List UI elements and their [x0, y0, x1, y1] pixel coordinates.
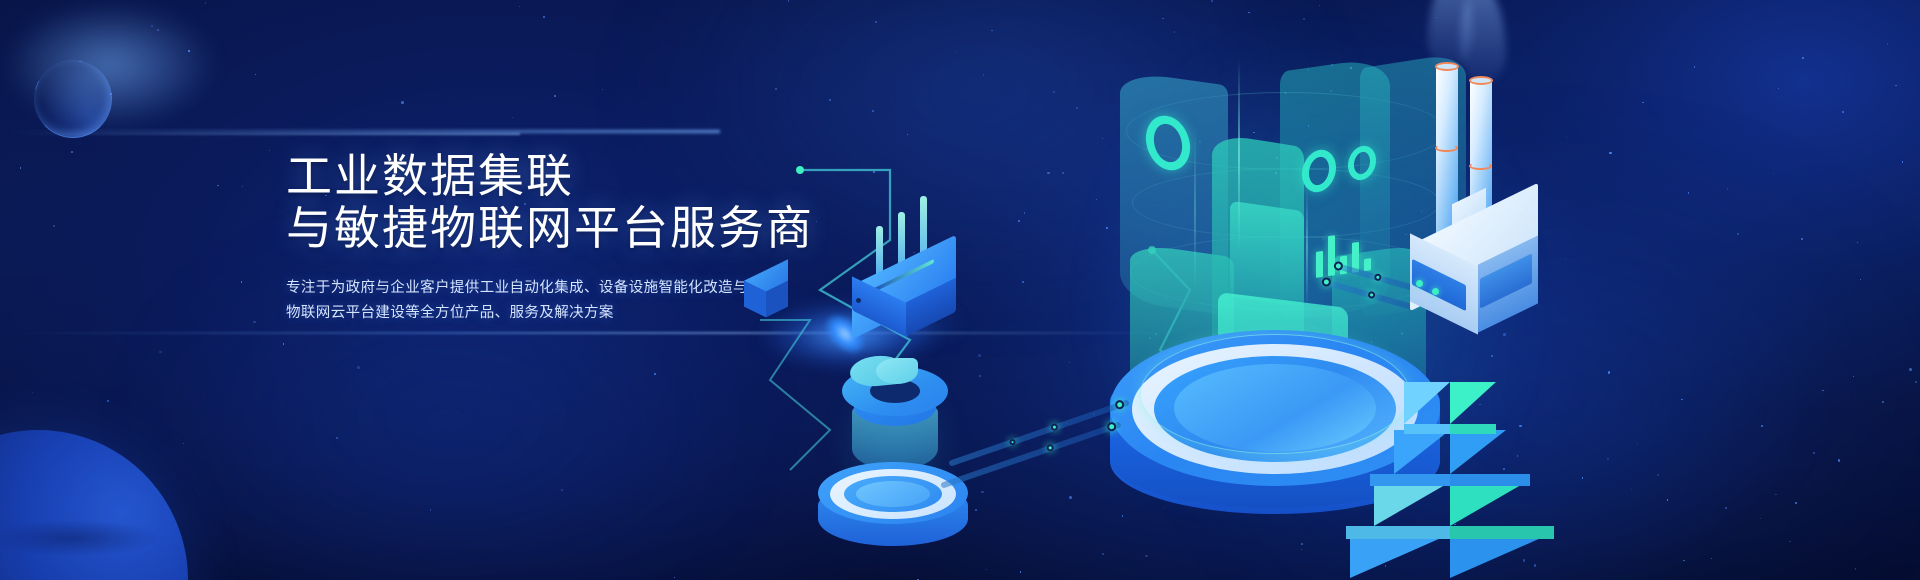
industrial-iot-illustration — [980, 0, 1680, 580]
hero-banner: 工业数据集联 与敏捷物联网平台服务商 专注于为政府与企业客户提供工业自动化集成、… — [0, 0, 1920, 580]
hero-subtitle: 专注于为政府与企业客户提供工业自动化集成、设备设施智能化改造与连接、 物联网云平… — [286, 276, 816, 326]
wireless-router-icon — [842, 238, 982, 348]
layered-pyramid — [1380, 382, 1650, 580]
subtitle-line-2: 物联网云平台建设等全方位产品、服务及解决方案 — [286, 301, 816, 326]
horizon-ray — [0, 133, 520, 135]
small-cube — [744, 270, 802, 322]
smoke-plume — [1460, 0, 1506, 84]
hologram-glow-line — [1194, 130, 1196, 290]
planet-icon — [0, 430, 188, 580]
factory-icon — [1402, 180, 1602, 360]
mini-disc-platform — [818, 462, 968, 572]
hologram-glow-line — [1238, 60, 1240, 250]
hologram-glow-line — [1306, 188, 1308, 308]
light-ray-glow — [0, 0, 220, 130]
subtitle-line-1: 专注于为政府与企业客户提供工业自动化集成、设备设施智能化改造与连接、 — [286, 276, 816, 301]
hologram-panel — [1230, 201, 1304, 307]
